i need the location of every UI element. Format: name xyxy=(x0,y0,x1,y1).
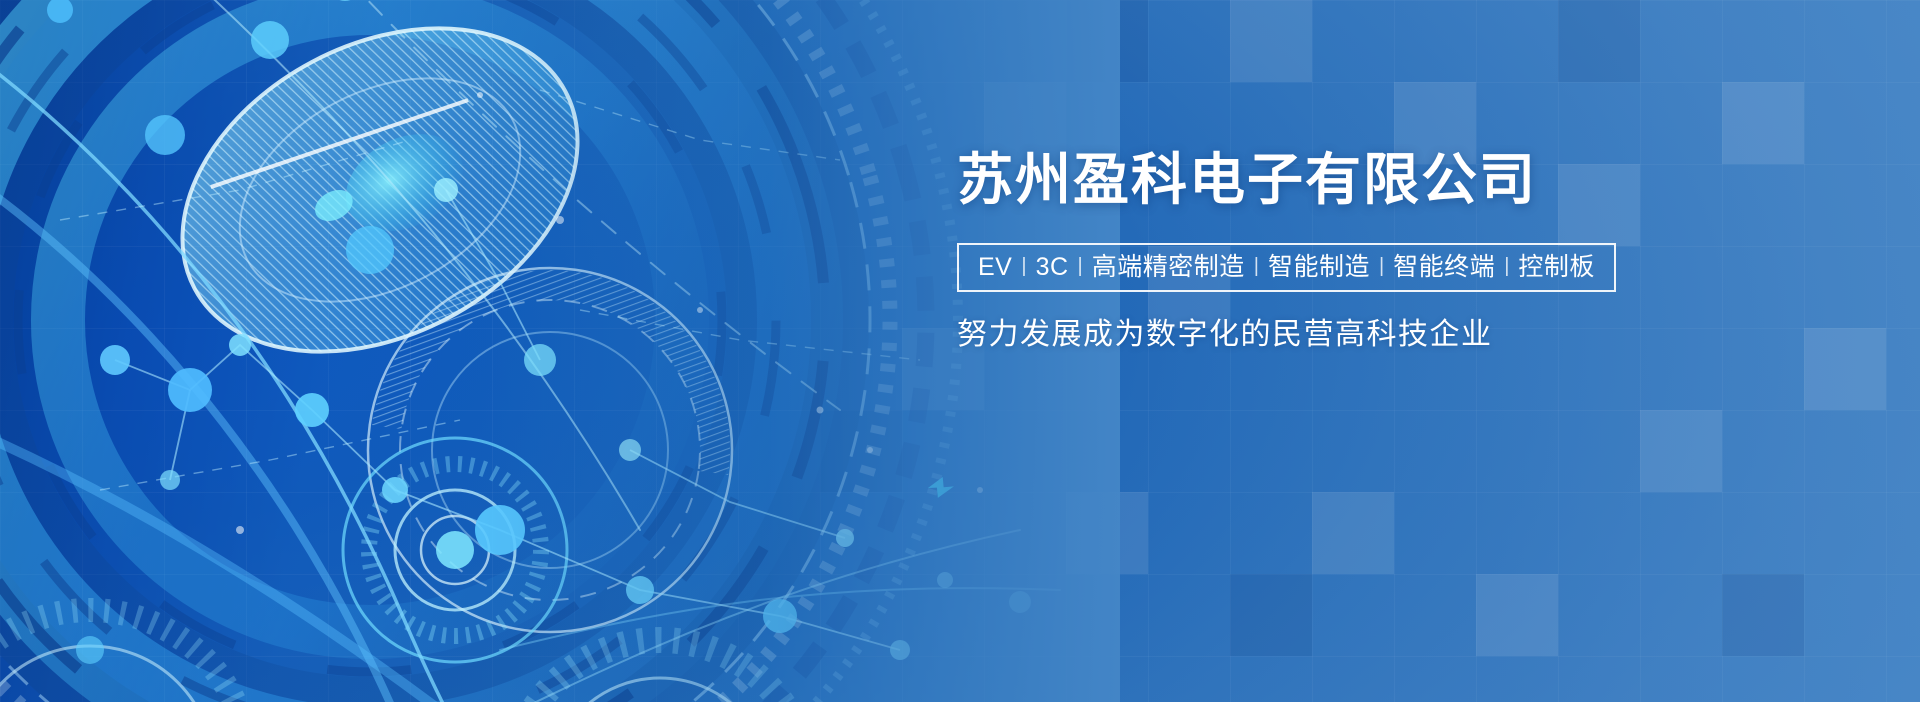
company-title: 苏州盈科电子有限公司 xyxy=(957,150,1657,209)
tagline-box: EV | 3C | 高端精密制造 | 智能制造 | 智能终端 | 控制板 xyxy=(957,243,1616,292)
background-mosaic-grid xyxy=(0,0,1920,702)
tagline-separator-2: | xyxy=(1069,255,1092,278)
tagline-separator-3: | xyxy=(1245,255,1268,278)
tagline-item-smart-mfg: 智能制造 xyxy=(1268,255,1370,280)
tagline-item-control-board: 控制板 xyxy=(1518,255,1595,280)
tagline-separator-5: | xyxy=(1495,255,1518,278)
artwork-right-fade xyxy=(480,0,1120,702)
company-subtitle: 努力发展成为数字化的民营高科技企业 xyxy=(957,320,1657,350)
tagline-item-3c: 3C xyxy=(1036,255,1069,280)
tagline-item-smart-terminal: 智能终端 xyxy=(1393,255,1495,280)
hero-banner: 苏州盈科电子有限公司 EV | 3C | 高端精密制造 | 智能制造 | 智能终… xyxy=(0,0,1920,702)
tech-graphic-svg xyxy=(0,0,1100,702)
hero-copy: 苏州盈科电子有限公司 EV | 3C | 高端精密制造 | 智能制造 | 智能终… xyxy=(957,150,1657,350)
background-gradient-wash xyxy=(0,0,1920,702)
background-grid-tiles xyxy=(0,0,1920,702)
abstract-tech-graphic xyxy=(0,0,1100,702)
tagline-separator-1: | xyxy=(1012,255,1035,278)
tagline-separator-4: | xyxy=(1370,255,1393,278)
tagline-item-ev: EV xyxy=(978,255,1012,280)
tagline-item-precision: 高端精密制造 xyxy=(1092,255,1245,280)
